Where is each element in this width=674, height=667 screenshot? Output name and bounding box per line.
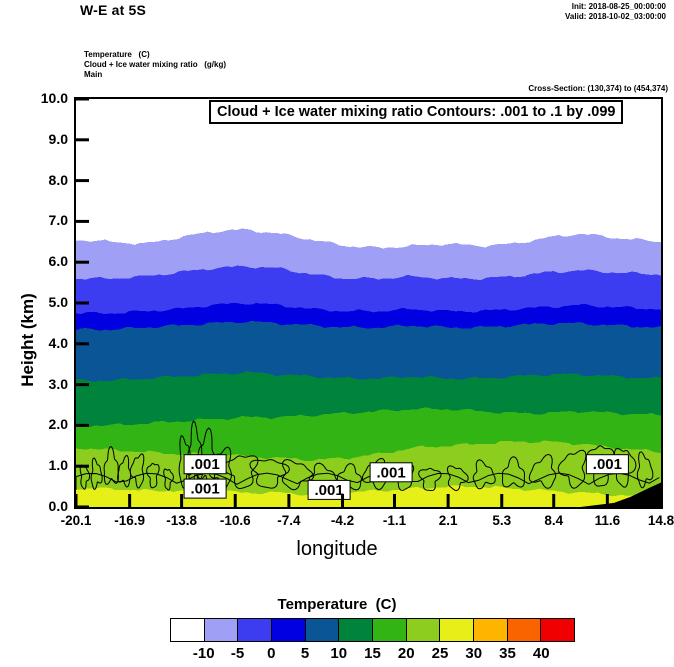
x-axis-tick-label: -7.4: [259, 513, 319, 528]
colorbar: [170, 618, 575, 642]
colorbar-title: Temperature (C): [177, 596, 497, 613]
x-axis-tick-label: -20.1: [46, 513, 106, 528]
x-axis-tick-label: 2.1: [418, 513, 478, 528]
init-time-label: Init: 2018-08-25_00:00:00: [572, 2, 666, 11]
colorbar-cell: [238, 619, 272, 641]
page-title: W-E at 5S: [80, 2, 146, 18]
colorbar-cell: [272, 619, 306, 641]
x-axis-tick-label: 11.6: [577, 513, 637, 528]
valid-time-label: Valid: 2018-10-02_03:00:00: [565, 12, 666, 21]
colorbar-cell: [306, 619, 340, 641]
y-axis-tick-label: 8.0: [22, 172, 68, 188]
colorbar-cell: [205, 619, 239, 641]
contour-label: .001: [184, 479, 226, 498]
colorbar-cell: [474, 619, 508, 641]
y-axis-title: Height (km): [18, 280, 38, 400]
desc-domain-line: Main: [84, 70, 226, 80]
x-axis-tick-label: -10.6: [205, 513, 265, 528]
y-axis-tick-label: 10.0: [22, 90, 68, 106]
x-axis-tick-label: -1.1: [364, 513, 424, 528]
y-axis-tick-label: 0.0: [22, 498, 68, 514]
y-axis-tick-label: 2.0: [22, 416, 68, 432]
variable-description-block: Temperature (C) Cloud + Ice water mixing…: [84, 50, 226, 80]
cross-section-plot: .001.001.001.001.001: [76, 99, 661, 507]
colorbar-tick-label: 40: [521, 645, 561, 662]
y-axis-tick-label: 9.0: [22, 131, 68, 147]
svg-text:.001: .001: [314, 482, 343, 499]
x-axis-tick-label: -13.8: [152, 513, 212, 528]
x-axis-title: longitude: [257, 538, 417, 561]
x-axis-tick-label: 8.4: [524, 513, 584, 528]
svg-text:.001: .001: [593, 456, 622, 473]
colorbar-cell: [171, 619, 205, 641]
y-axis-tick-label: 7.0: [22, 212, 68, 228]
contour-label: .001: [184, 455, 226, 474]
plot-frame: .001.001.001.001.001: [74, 97, 663, 509]
cross-section-label: Cross-Section: (130,374) to (454,374): [528, 84, 668, 93]
svg-text:.001: .001: [190, 456, 219, 473]
svg-text:.001: .001: [190, 481, 219, 498]
colorbar-cell: [541, 619, 574, 641]
colorbar-cell: [440, 619, 474, 641]
contour-label: .001: [370, 463, 412, 482]
colorbar-cell: [373, 619, 407, 641]
contour-title-box: Cloud + Ice water mixing ratio Contours:…: [209, 100, 623, 124]
colorbar-cell: [508, 619, 542, 641]
desc-mixing-ratio-line: Cloud + Ice water mixing ratio (g/kg): [84, 60, 226, 70]
y-axis-tick-label: 6.0: [22, 253, 68, 269]
y-axis-tick-label: 1.0: [22, 457, 68, 473]
svg-text:.001: .001: [376, 464, 405, 481]
colorbar-cell: [339, 619, 373, 641]
contour-label: .001: [586, 455, 628, 474]
desc-temperature-line: Temperature (C): [84, 50, 226, 60]
colorbar-cell: [407, 619, 441, 641]
x-axis-tick-label: 14.8: [631, 513, 674, 528]
